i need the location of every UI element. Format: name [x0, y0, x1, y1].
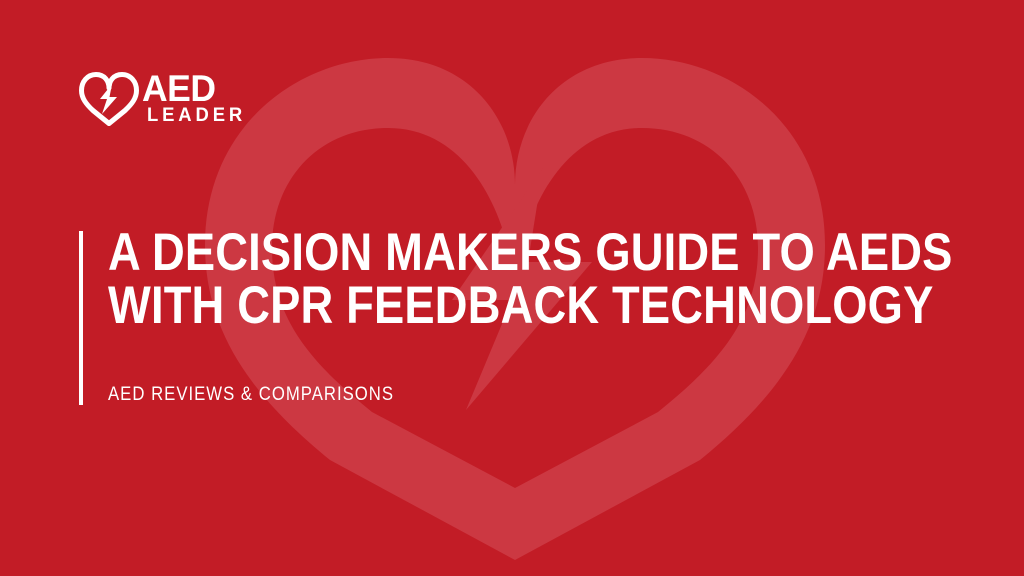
title-slide: AED LEADER A DECISION MAKERS GUIDE TO AE…	[0, 0, 1024, 576]
accent-rule	[79, 231, 83, 405]
title-line-2: WITH CPR FEEDBACK TECHNOLOGY	[108, 279, 843, 332]
logo-wordmark: AED LEADER	[142, 71, 249, 126]
title-line-1: A DECISION MAKERS GUIDE TO AEDS	[108, 226, 843, 279]
logo-primary-text: AED	[142, 73, 245, 105]
page-title: A DECISION MAKERS GUIDE TO AEDS WITH CPR…	[108, 226, 968, 332]
heart-with-lightning-bolt-icon	[79, 72, 139, 126]
brand-logo[interactable]: AED LEADER	[79, 68, 249, 130]
logo-secondary-text: LEADER	[147, 105, 246, 126]
page-subtitle: AED REVIEWS & COMPARISONS	[108, 384, 394, 406]
